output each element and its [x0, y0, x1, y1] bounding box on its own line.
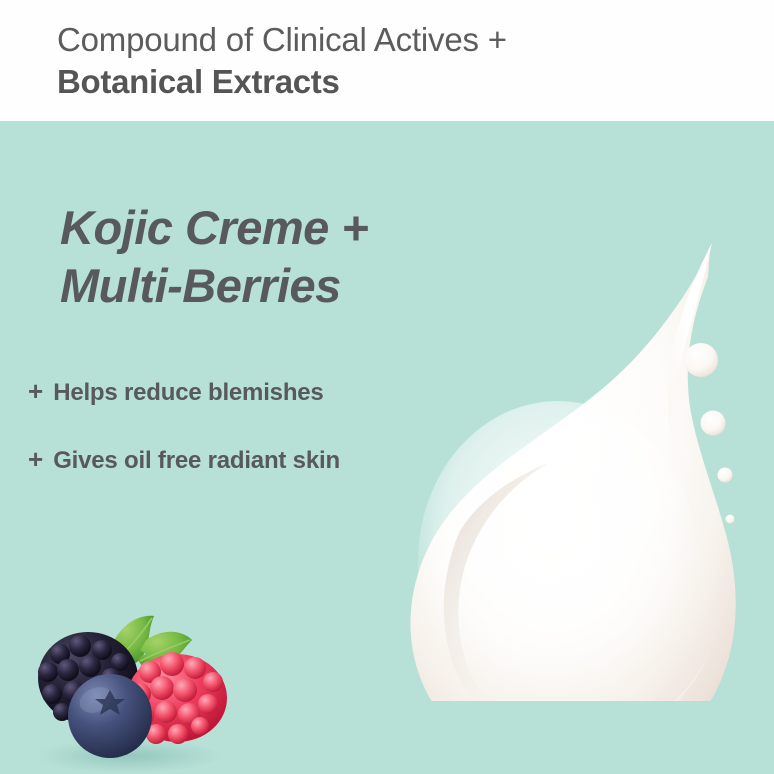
mint-content-panel: Kojic Creme + Multi-Berries + Helps redu… [0, 121, 774, 774]
header-band: Compound of Clinical Actives + Botanical… [0, 0, 774, 121]
header-subtitle-line2: Botanical Extracts [57, 62, 340, 102]
mixed-berries-icon [14, 606, 239, 774]
cream-swatch-image [390, 231, 774, 701]
cream-droplet-1 [684, 343, 718, 377]
plus-icon: + [28, 445, 43, 473]
plus-icon: + [28, 377, 43, 405]
cream-droplet-3 [718, 468, 733, 483]
blueberry [68, 674, 152, 758]
cream-droplet-4 [726, 515, 735, 524]
benefit-label: Helps reduce blemishes [53, 379, 323, 407]
product-banner: Compound of Clinical Actives + Botanical… [0, 0, 774, 774]
cream-droplet-icon [390, 231, 774, 701]
cream-droplet-2 [701, 411, 726, 436]
header-subtitle-line1: Compound of Clinical Actives + [57, 20, 507, 60]
benefit-label: Gives oil free radiant skin [53, 447, 340, 475]
berry-cluster-image [14, 606, 239, 774]
